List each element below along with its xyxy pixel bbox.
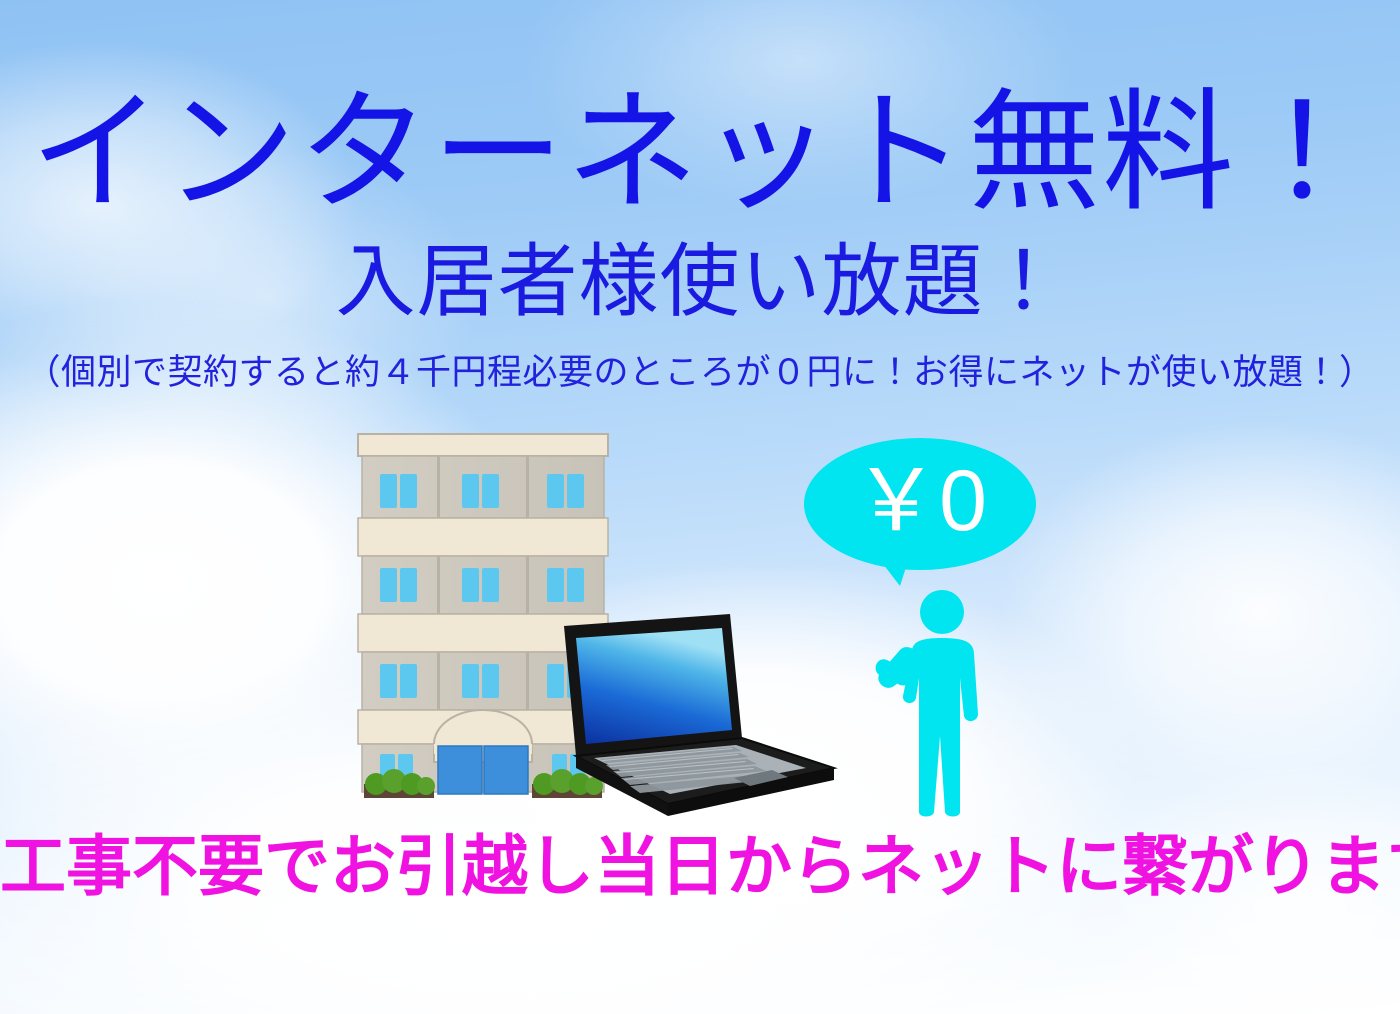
pricing-note: （個別で契約すると約４千円程必要のところが０円に！お得にネットが使い放題！） [0, 352, 1400, 394]
poster-canvas: ￥0 インターネット無料！ 入居者様使い放題！ （個別で契約すると約４千円程必要… [0, 0, 1400, 1014]
page-title: インターネット無料！ [0, 86, 1400, 221]
text-layer: インターネット無料！ 入居者様使い放題！ （個別で契約すると約４千円程必要のとこ… [0, 0, 1400, 1014]
tagline: 工事不要でお引越し当日からネットに繋がります [0, 830, 1400, 903]
subtitle: 入居者様使い放題！ [0, 240, 1400, 324]
